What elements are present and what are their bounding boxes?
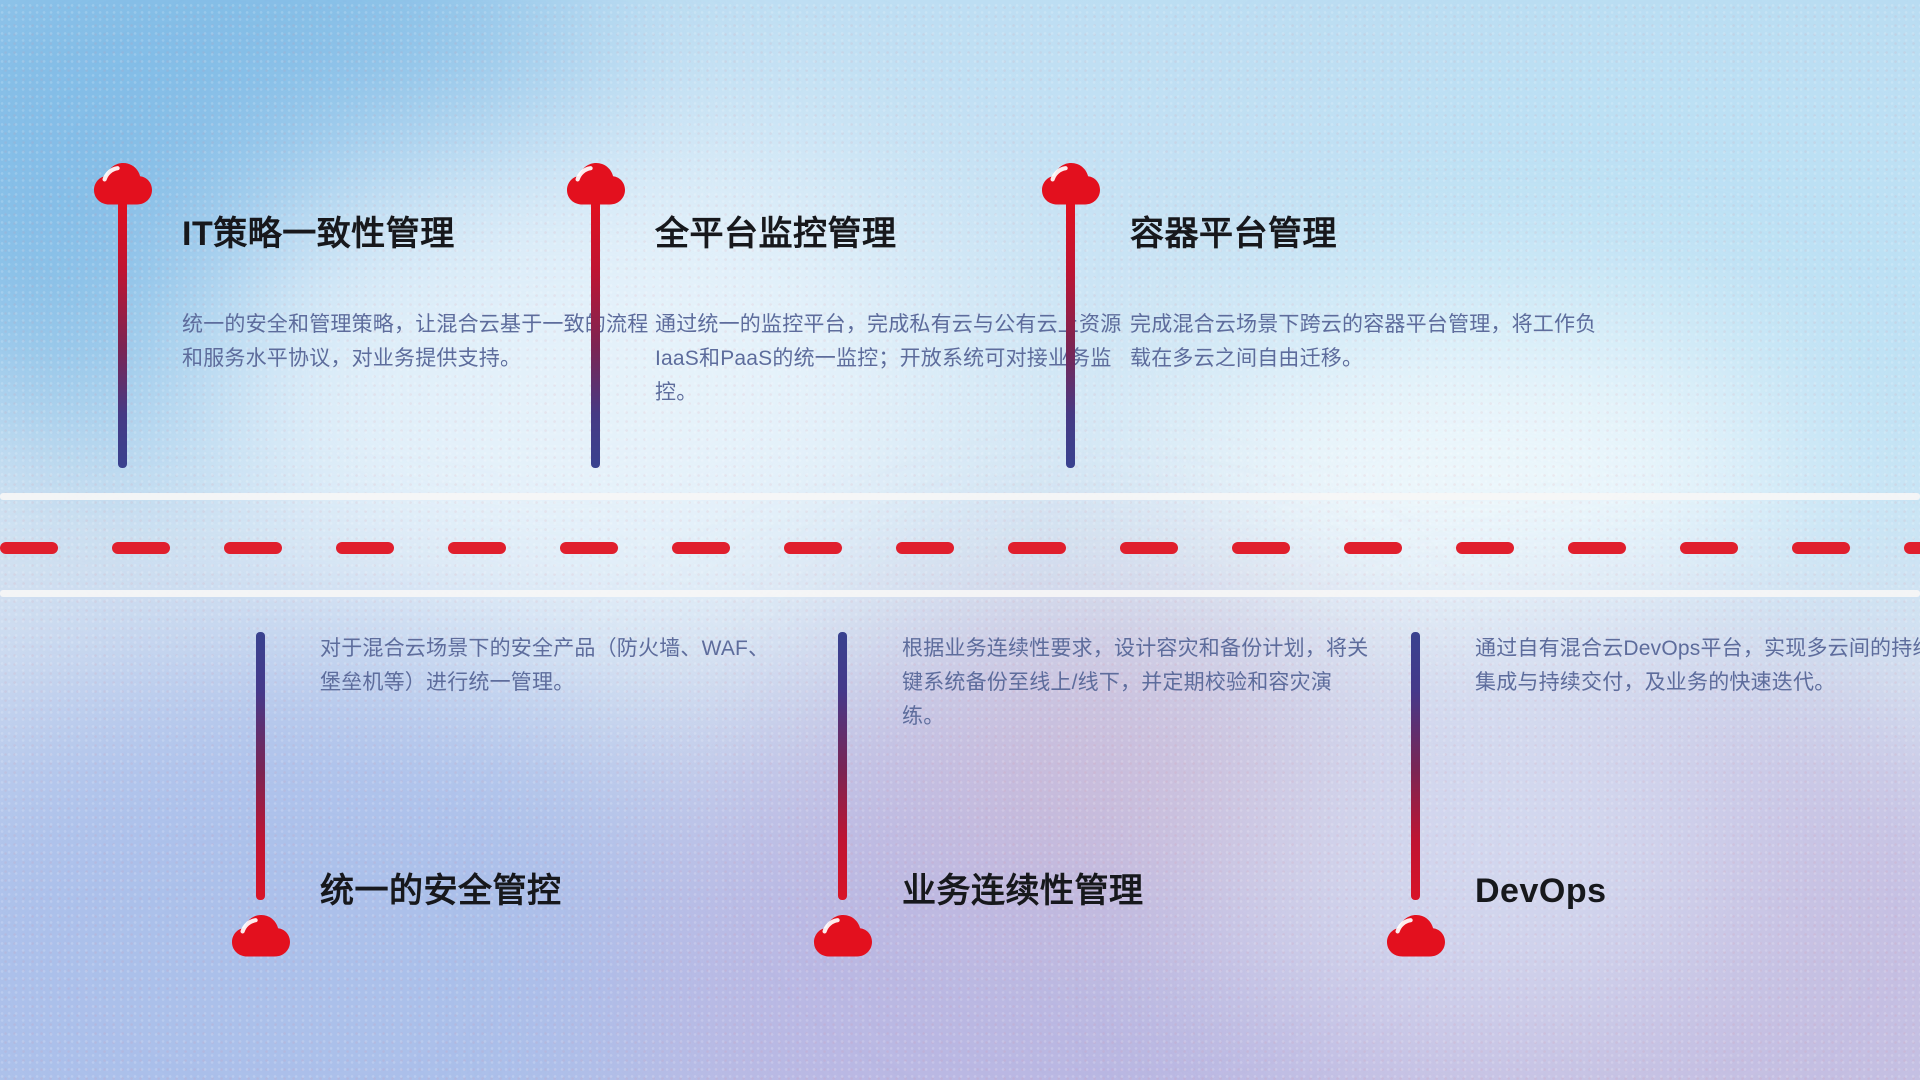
cloud-icon [812,912,874,958]
divider-dash [896,542,954,554]
divider-dash [672,542,730,554]
connector-bar [838,632,847,900]
divider-dash [1232,542,1290,554]
divider-dash [1568,542,1626,554]
divider-dash [112,542,170,554]
card-body: 通过统一的监控平台，完成私有云与公有云上资源IaaS和PaaS的统一监控；开放系… [655,308,1125,410]
connector-bar [1066,200,1075,468]
divider-dash [1680,542,1738,554]
card-title: IT策略一致性管理 [182,215,455,254]
dashed-divider [0,542,1920,554]
divider-dash [560,542,618,554]
divider-dash [224,542,282,554]
connector-bar [1411,632,1420,900]
card-body: 完成混合云场景下跨云的容器平台管理，将工作负载在多云之间自由迁移。 [1130,308,1600,376]
divider-dash [1456,542,1514,554]
card-title: 统一的安全管控 [320,872,562,911]
divider-dash [1904,542,1920,554]
divider-dash [1344,542,1402,554]
divider-rule-top [0,493,1920,500]
card-title: DevOps [1475,872,1607,911]
cloud-icon [1385,912,1447,958]
divider-dash [1792,542,1850,554]
connector-bar [256,632,265,900]
divider-dash [336,542,394,554]
cloud-icon [230,912,292,958]
divider-dash [448,542,506,554]
card-body: 根据业务连续性要求，设计容灾和备份计划，将关键系统备份至线上/线下，并定期校验和… [902,632,1372,734]
connector-bar [591,200,600,468]
card-body: 对于混合云场景下的安全产品（防火墙、WAF、堡垒机等）进行统一管理。 [320,632,790,700]
card-title: 全平台监控管理 [655,215,897,254]
divider-dash [0,542,58,554]
card-title: 业务连续性管理 [902,872,1144,911]
card-title: 容器平台管理 [1130,215,1337,254]
card-body: 通过自有混合云DevOps平台，实现多云间的持续集成与持续交付，及业务的快速迭代… [1475,632,1920,700]
infographic-canvas: IT策略一致性管理 统一的安全和管理策略，让混合云基于一致的流程和服务水平协议，… [0,0,1920,1080]
divider-dash [1008,542,1066,554]
divider-rule-bottom [0,590,1920,597]
card-body: 统一的安全和管理策略，让混合云基于一致的流程和服务水平协议，对业务提供支持。 [182,308,652,376]
divider-dash [1120,542,1178,554]
divider-dash [784,542,842,554]
connector-bar [118,200,127,468]
